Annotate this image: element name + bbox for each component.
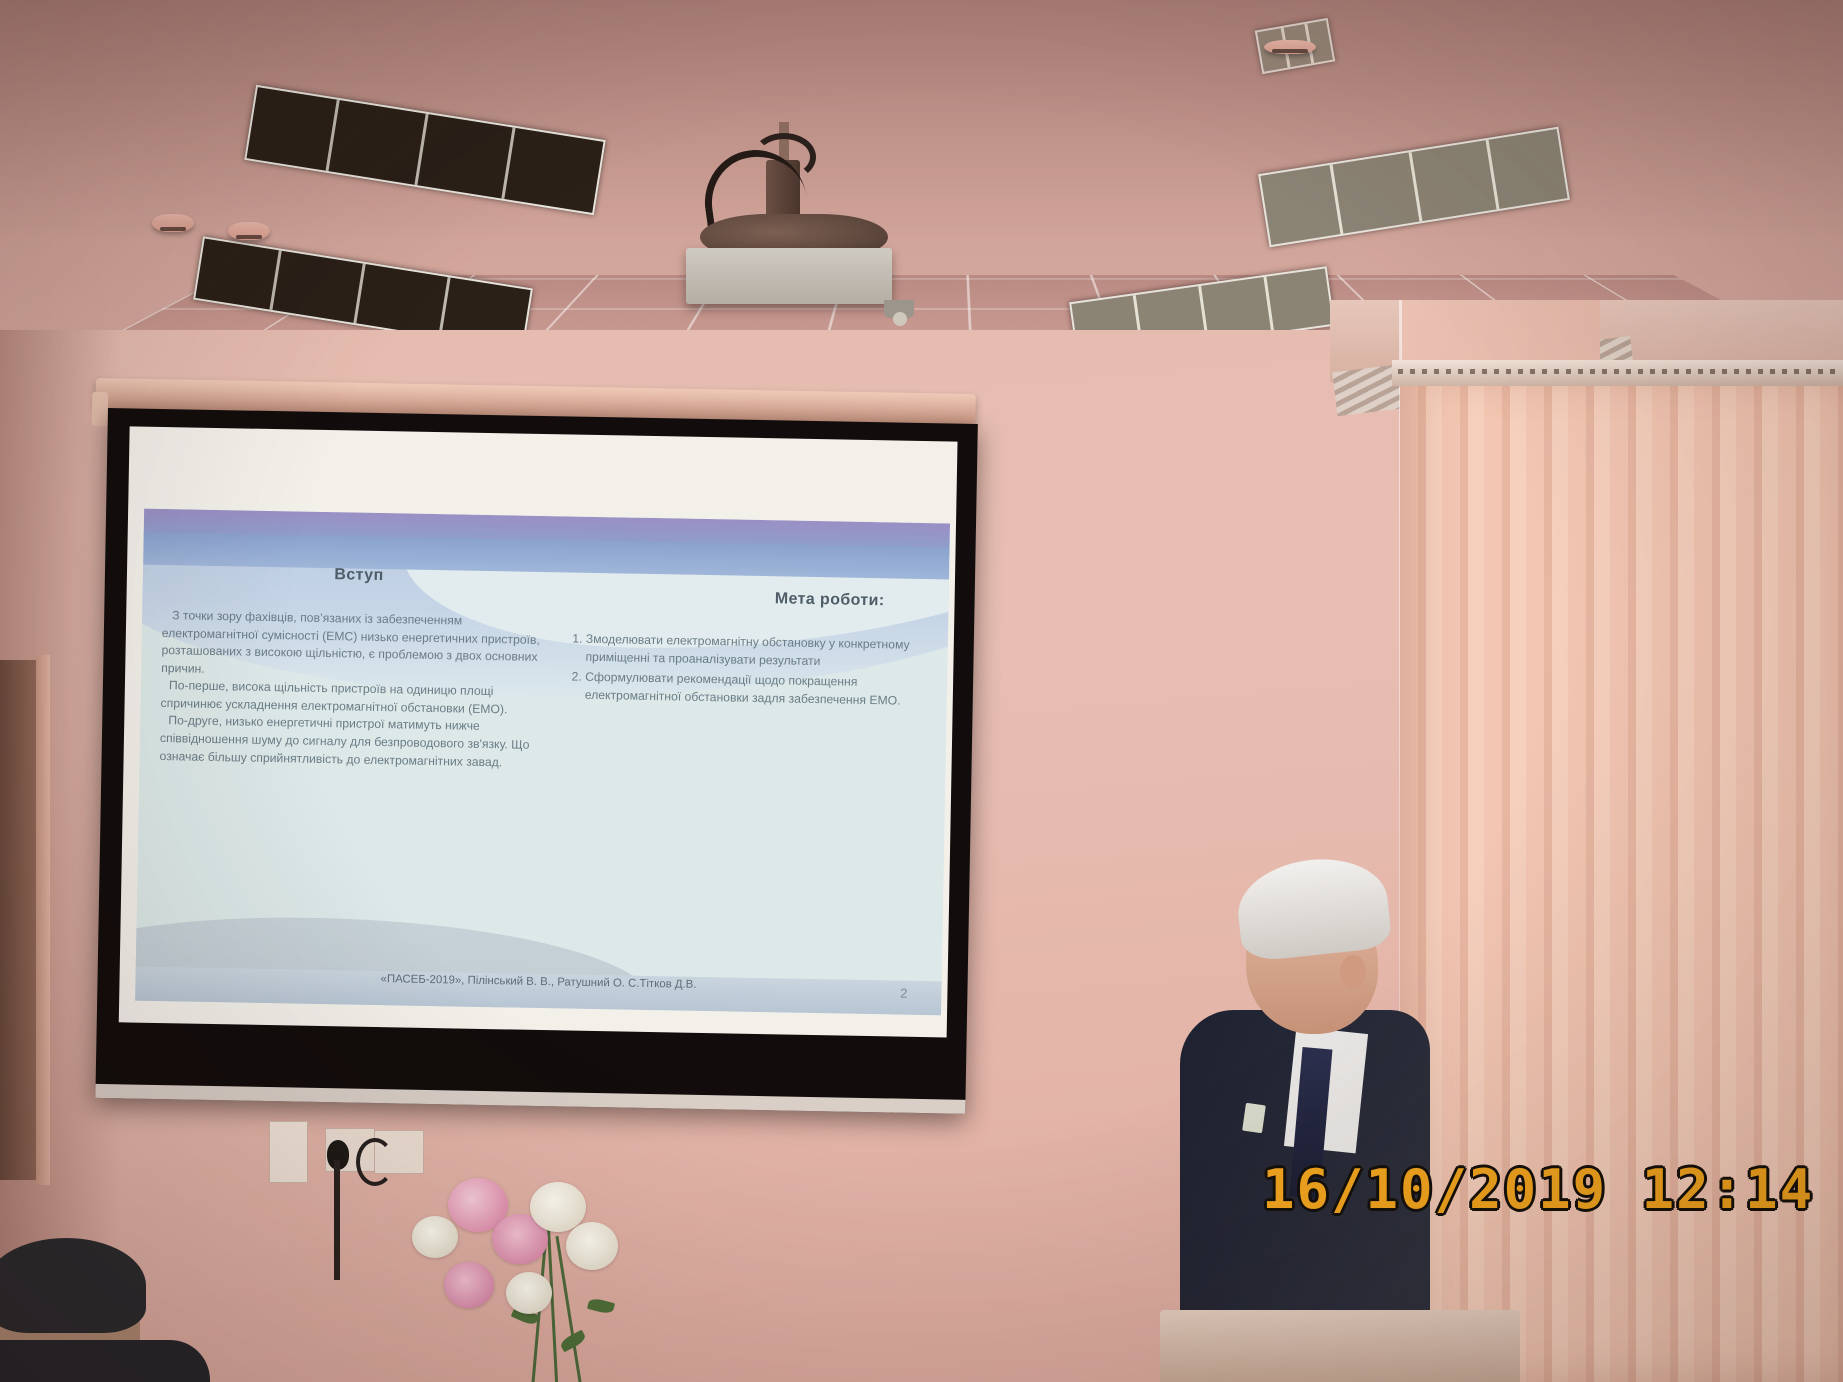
audience-shoulders bbox=[0, 1340, 210, 1382]
microphone-stand bbox=[334, 1160, 340, 1280]
flower-bloom-white bbox=[412, 1216, 458, 1258]
cable-loop bbox=[356, 1138, 394, 1186]
smoke-detector bbox=[228, 222, 270, 240]
projector bbox=[686, 248, 892, 304]
screen-surface: Вступ З точки зору фахівців, пов’язаних … bbox=[119, 426, 958, 1037]
slide-goal-list: Змоделювати електромагнітну обстановку у… bbox=[559, 630, 940, 711]
flower-bloom-white bbox=[506, 1272, 552, 1314]
photograph-scene: Вступ З точки зору фахівців, пов’язаних … bbox=[0, 0, 1843, 1382]
flower-leaf bbox=[587, 1297, 615, 1315]
slide-goal-item: Сформулювати рекомендації щодо покращенн… bbox=[585, 669, 940, 711]
speaker-ear bbox=[1340, 955, 1366, 989]
camera-timestamp-overlay: 16/10/2019 12:14 bbox=[1262, 1158, 1814, 1221]
screen-roller-cap bbox=[92, 392, 109, 426]
cabinet-edge bbox=[36, 655, 50, 1185]
blinds-track[interactable] bbox=[1392, 360, 1843, 386]
smoke-detector bbox=[152, 214, 194, 232]
audience-hair bbox=[0, 1238, 146, 1333]
flower-bloom-white bbox=[566, 1222, 618, 1270]
presentation-slide: Вступ З точки зору фахівців, пов’язаних … bbox=[135, 509, 950, 1016]
slide-goal-item: Змоделювати електромагнітну обстановку у… bbox=[585, 631, 940, 673]
slide-column-right: Мета роботи: Змоделювати електромагнітну… bbox=[559, 586, 941, 714]
projection-screen: Вступ З точки зору фахівців, пов’язаних … bbox=[95, 408, 977, 1114]
slide-paragraph: По-друге, низько енергетичні пристрої ма… bbox=[159, 712, 552, 772]
slide-column-left: Вступ З точки зору фахівців, пов’язаних … bbox=[159, 563, 555, 772]
wall-label-plate bbox=[269, 1121, 308, 1183]
slide-number: 2 bbox=[900, 986, 908, 1001]
projector-adjust-knob bbox=[893, 312, 907, 326]
slide-paragraph: З точки зору фахівців, пов’язаних із заб… bbox=[161, 607, 554, 684]
flower-bloom-pink bbox=[444, 1262, 494, 1308]
ceiling-vent-cap bbox=[1264, 40, 1316, 54]
speaker-badge bbox=[1242, 1103, 1266, 1134]
podium bbox=[1160, 1310, 1520, 1382]
vertical-blinds[interactable] bbox=[1400, 378, 1843, 1382]
